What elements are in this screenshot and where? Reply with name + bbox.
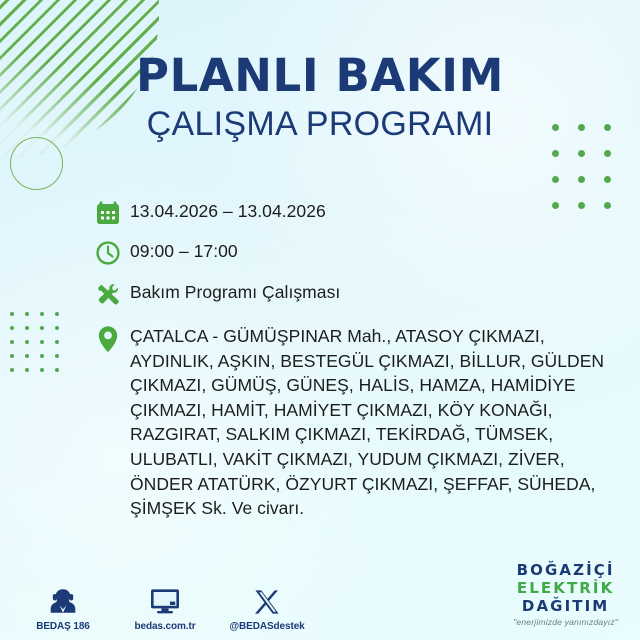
circle-outline-decoration [10,137,63,190]
location-pin-icon [86,324,130,353]
planned-maintenance-poster: PLANLI BAKIM ÇALIŞMA PROGRAMI 13.04.2026… [0,0,640,640]
contact-x-account[interactable]: @BEDASdestek [228,582,306,632]
contact-website[interactable]: bedas.com.tr [126,582,204,632]
contact-channels: BEDAŞ 186 bedas.com.tr [24,582,306,632]
headset-support-icon [24,582,102,616]
contact-website-label: bedas.com.tr [126,621,204,632]
brand-line-bogazici: BOĞAZİÇİ [513,563,618,578]
time-range-text: 09:00 – 17:00 [130,239,238,264]
contact-phone-label: BEDAŞ 186 [24,621,102,632]
monitor-website-icon [126,582,204,616]
details-list: 13.04.2026 – 13.04.2026 09:00 – 17:00 [86,199,622,533]
date-range-text: 13.04.2026 – 13.04.2026 [130,199,326,224]
x-twitter-icon [228,582,306,616]
brand-tagline: "enerjimizde yanınızdayız" [513,618,618,627]
brand-line-dagitim: DAĞITIM [513,599,618,614]
poster-heading: PLANLI BAKIM ÇALIŞMA PROGRAMI [0,52,640,143]
dot-grid-left-decoration [10,312,70,382]
detail-row-date: 13.04.2026 – 13.04.2026 [86,199,622,226]
contact-x-label: @BEDASdestek [228,621,306,632]
brand-line-elektrik: ELEKTRİK [513,581,618,596]
detail-row-work-type: Bakım Programı Çalışması [86,280,622,309]
detail-row-address: ÇATALCA - GÜMÜŞPINAR Mah., ATASOY ÇIKMAZ… [86,324,622,521]
work-type-text: Bakım Programı Çalışması [130,280,340,305]
detail-row-time: 09:00 – 17:00 [86,239,622,266]
contact-phone[interactable]: BEDAŞ 186 [24,582,102,632]
clock-icon [86,239,130,266]
tools-icon [86,280,130,309]
page-title: PLANLI BAKIM [0,52,640,100]
address-text: ÇATALCA - GÜMÜŞPINAR Mah., ATASOY ÇIKMAZ… [130,324,622,521]
bedas-logo: BOĞAZİÇİ ELEKTRİK DAĞITIM "enerjimizde y… [513,563,618,627]
page-subtitle: ÇALIŞMA PROGRAMI [0,106,640,143]
poster-footer: BEDAŞ 186 bedas.com.tr [0,554,640,640]
calendar-icon [86,199,130,226]
